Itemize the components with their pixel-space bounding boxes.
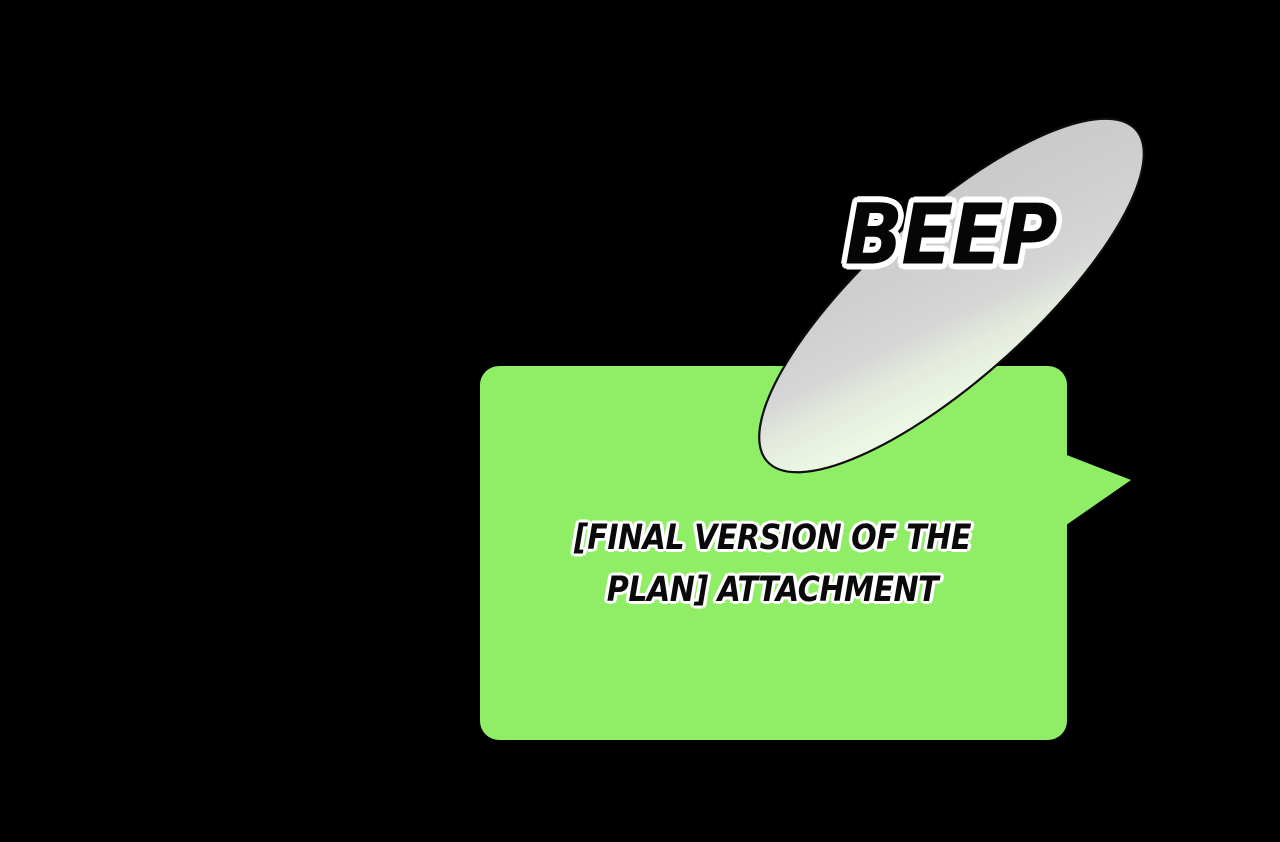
motion-streak-ellipse <box>703 47 1200 544</box>
comic-panel: [FINAL VERSION OF THE PLAN] ATTACHMENT B… <box>0 0 1280 842</box>
